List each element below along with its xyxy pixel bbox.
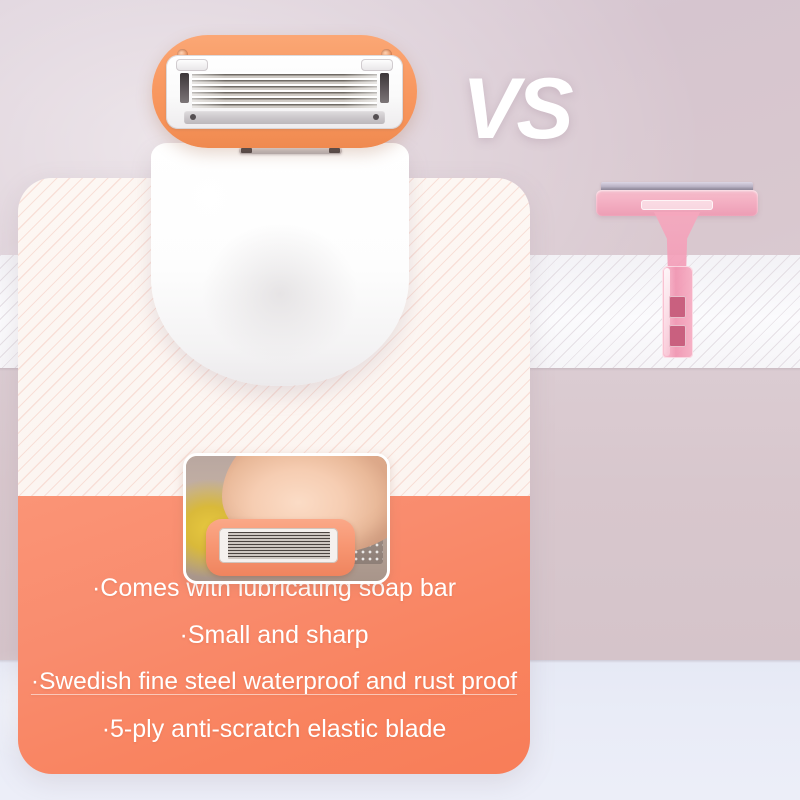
- pink-disposable-razor: [596, 178, 761, 358]
- pink-razor-head-slot: [641, 200, 712, 210]
- finger-touching-blade-photo: [183, 453, 390, 584]
- pink-razor-neck: [654, 212, 700, 270]
- feature-item-4: ·5-ply anti-scratch elastic blade: [18, 717, 530, 742]
- orange-razor-cartridge: [152, 35, 417, 148]
- pink-razor-handle-cutout-bottom: [669, 325, 686, 347]
- photo-cartridge-blades: [228, 532, 330, 559]
- cartridge-blades: [192, 72, 377, 108]
- feature-item-3: ·Swedish fine steel waterproof and rust …: [18, 670, 530, 695]
- cartridge-tab-right: [361, 59, 393, 71]
- comparison-banner: VS ·Comes with lubricating soap bar ·Sma…: [0, 0, 800, 800]
- white-razor-body: [151, 143, 409, 386]
- cartridge-tab-left: [176, 59, 208, 71]
- cartridge-frame: [166, 55, 403, 129]
- cartridge-guard-bar: [184, 110, 385, 124]
- cartridge-clip-right: [380, 73, 389, 103]
- photo-orange-cartridge: [206, 519, 355, 577]
- feature-item-2: ·Small and sharp: [18, 623, 530, 648]
- razor-hinge-bar: [239, 147, 342, 154]
- versus-label: VS: [462, 66, 571, 152]
- white-body-highlight: [166, 153, 274, 279]
- cartridge-clip-left: [180, 73, 189, 103]
- feature-list: ·Comes with lubricating soap bar ·Small …: [18, 576, 530, 764]
- photo-cartridge-frame: [219, 528, 338, 564]
- pink-razor-handle-cutout-top: [669, 296, 686, 318]
- pink-razor-handle: [662, 266, 693, 358]
